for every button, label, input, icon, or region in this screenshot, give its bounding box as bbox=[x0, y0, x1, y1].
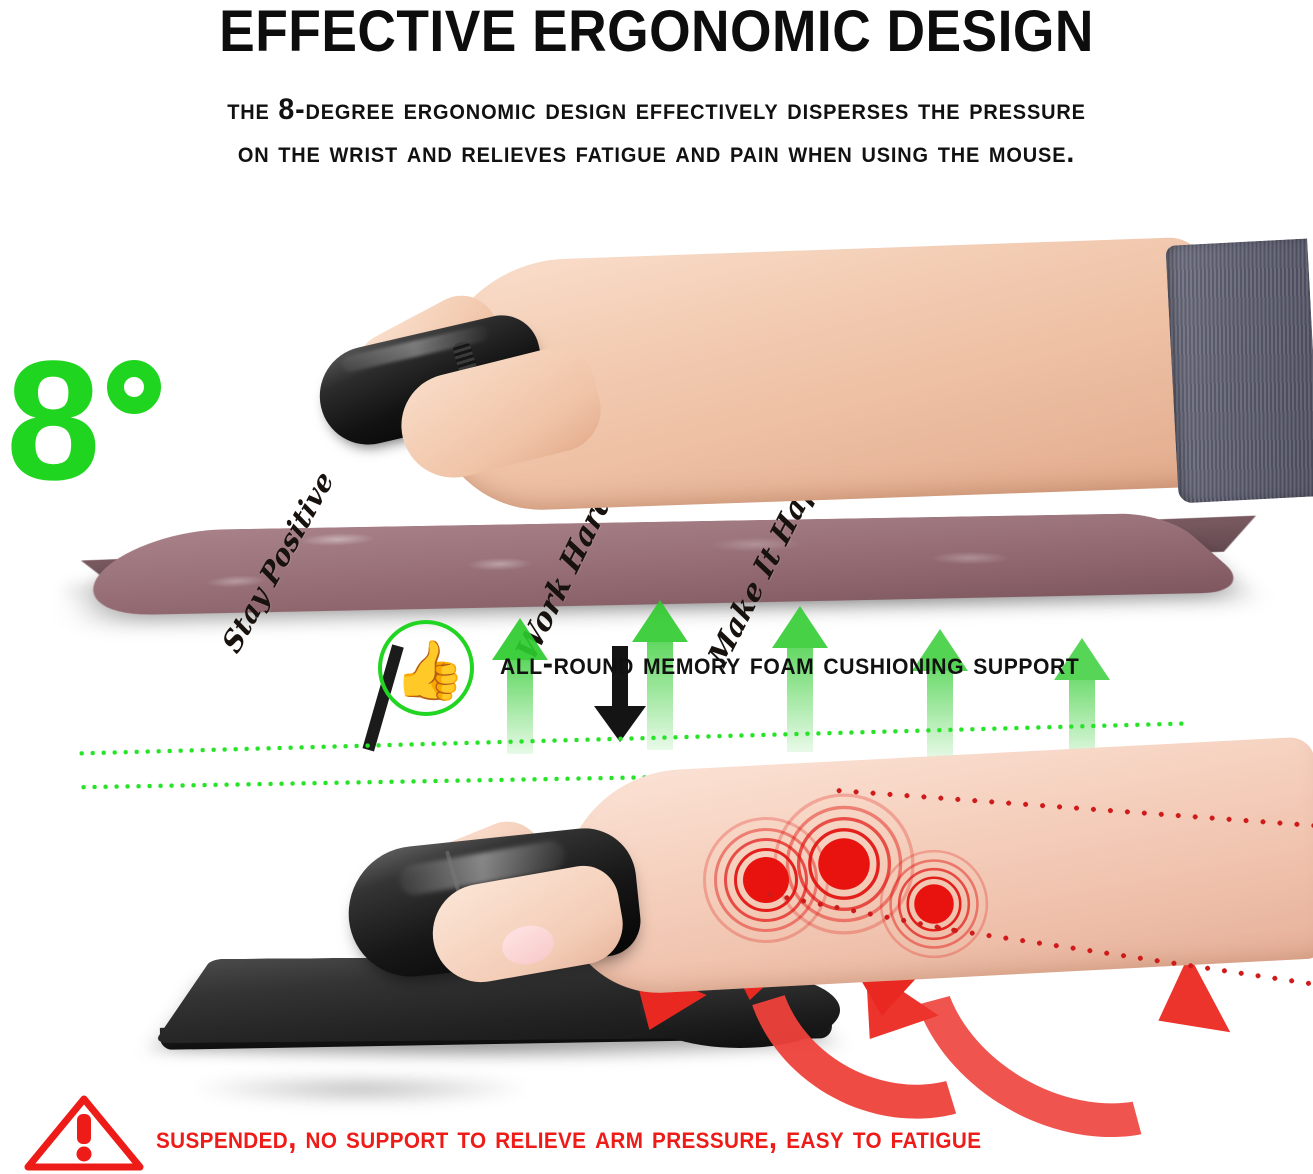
product-infographic: EFFECTIVE ERGONOMIC DESIGN The 8-degree … bbox=[0, 0, 1313, 1174]
subtitle-line-1: The 8-degree ergonomic design effectivel… bbox=[69, 88, 1244, 131]
angle-badge: 8 bbox=[6, 346, 161, 496]
positive-caption-row: 👍 All-round memory foam cushioning suppo… bbox=[0, 620, 1313, 716]
header-block: EFFECTIVE ERGONOMIC DESIGN The 8-degree … bbox=[0, 0, 1313, 174]
thumbs-up-glyph: 👍 bbox=[382, 624, 478, 720]
degree-symbol-icon bbox=[107, 360, 161, 414]
warning-caption-text: Suspended, no support to relieve arm pre… bbox=[156, 1112, 981, 1162]
subtitle-line-2: on the wrist and relieves fatigue and pa… bbox=[69, 131, 1244, 174]
subtitle-block: The 8-degree ergonomic design effectivel… bbox=[0, 88, 1313, 174]
angle-value: 8 bbox=[6, 346, 97, 496]
warning-triangle-icon bbox=[22, 1094, 146, 1172]
thumbs-up-icon: 👍 bbox=[378, 620, 474, 716]
sleeve-cuff bbox=[1165, 238, 1313, 503]
page-title: EFFECTIVE ERGONOMIC DESIGN bbox=[53, 0, 1261, 62]
positive-caption-text: All-round memory foam cushioning support bbox=[500, 638, 1079, 688]
warning-caption-row: Suspended, no support to relieve arm pre… bbox=[0, 1092, 1313, 1174]
pressure-point-icon-3 bbox=[877, 847, 991, 961]
flat-pad-illustration bbox=[0, 740, 1313, 1120]
